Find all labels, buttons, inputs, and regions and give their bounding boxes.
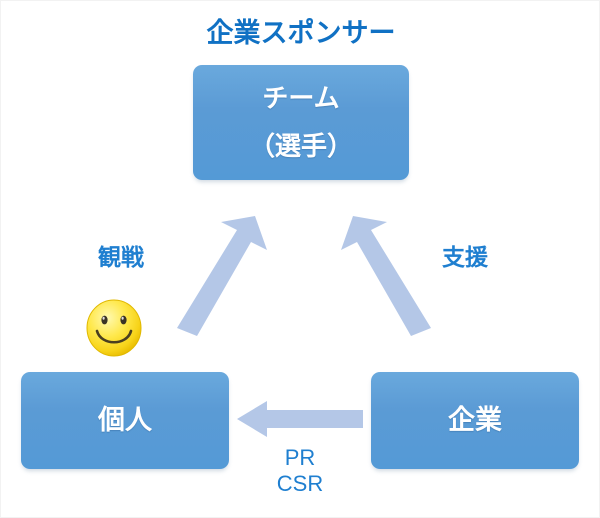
node-company[interactable]: 企業 (371, 372, 579, 469)
edge-label-pr-line2: CSR (240, 471, 360, 497)
node-team-line2: （選手） (249, 132, 353, 162)
arrow-watch-icon (171, 216, 271, 336)
node-team-line1: チーム (262, 84, 339, 114)
diagram-canvas: 企業スポンサー チーム （選手） 個人 企業 (0, 0, 600, 518)
smiley-face-icon (82, 295, 146, 359)
arrow-pr-icon (237, 399, 363, 439)
edge-label-pr-line1: PR (240, 445, 360, 471)
arrow-support-icon (337, 216, 437, 336)
node-company-label: 企業 (448, 405, 502, 436)
page-title: 企業スポンサー (1, 19, 600, 49)
edge-label-watch: 観戦 (61, 244, 181, 271)
node-individual-label: 個人 (98, 405, 152, 436)
node-individual[interactable]: 個人 (21, 372, 229, 469)
edge-label-support: 支援 (405, 244, 525, 271)
edge-label-pr: PR CSR (240, 445, 360, 497)
node-team[interactable]: チーム （選手） (193, 65, 409, 180)
